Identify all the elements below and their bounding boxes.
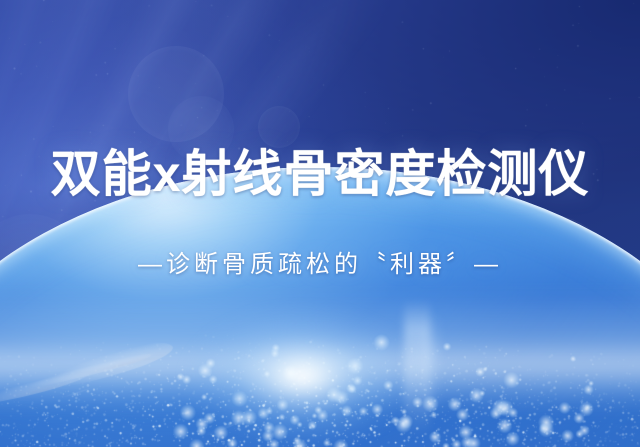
text-block: 双能x射线骨密度检测仪 —诊断骨质疏松的〝利器〞— [0, 0, 640, 447]
page-subtitle: —诊断骨质疏松的〝利器〞— [138, 244, 502, 279]
hero-banner: 双能x射线骨密度检测仪 —诊断骨质疏松的〝利器〞— [0, 0, 640, 447]
page-title: 双能x射线骨密度检测仪 [51, 148, 590, 201]
